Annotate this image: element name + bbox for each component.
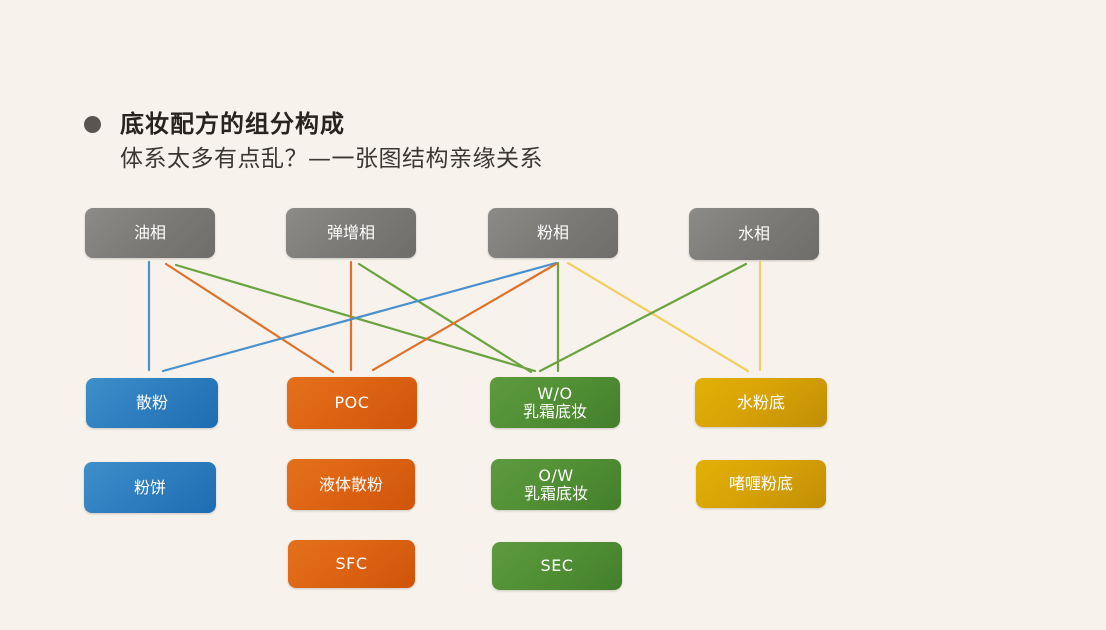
node-label-gel-found: 啫喱粉底 [729, 475, 793, 493]
slide-canvas: 底妆配方的组分构成 体系太多有点乱？—一张图结构亲缘关系 油相弹增相粉相水相散粉… [0, 0, 1106, 630]
node-label-liquid-powder: 液体散粉 [319, 476, 383, 494]
bullet-dot-icon [84, 116, 101, 133]
node-powder[interactable]: 粉相 [488, 208, 618, 258]
node-oil[interactable]: 油相 [85, 208, 215, 258]
connector-powder-to-poc [373, 264, 556, 370]
node-sfc[interactable]: SFC [288, 540, 415, 588]
node-pressed-powder[interactable]: 粉饼 [84, 462, 216, 513]
node-label-ow-cream: O/W [538, 467, 573, 485]
node-label-pressed-powder: 粉饼 [134, 479, 166, 497]
node-wo-cream[interactable]: W/O乳霜底妆 [490, 377, 620, 428]
node-label-water: 水相 [738, 225, 770, 243]
node-label-sec: SEC [541, 557, 574, 575]
node-loose-powder[interactable]: 散粉 [86, 378, 218, 428]
node-poc[interactable]: POC [287, 377, 417, 429]
node-label-loose-powder: 散粉 [136, 394, 168, 412]
node-label-poc: POC [335, 394, 370, 412]
node-liquid-powder[interactable]: 液体散粉 [287, 459, 415, 510]
node-elast[interactable]: 弹增相 [286, 208, 416, 258]
node-gel-found[interactable]: 啫喱粉底 [696, 460, 826, 508]
node-label-elast: 弹增相 [327, 224, 375, 242]
connector-powder-to-water-found [568, 263, 748, 371]
node-sec[interactable]: SEC [492, 542, 622, 590]
page-title: 底妆配方的组分构成 [120, 104, 345, 139]
connector-oil-to-wo-cream [176, 265, 535, 371]
connector-water-to-wo-cream [540, 264, 746, 371]
connector-lines-layer [0, 0, 1106, 630]
node-label-wo-cream: W/O [537, 385, 572, 403]
connector-powder-to-loose-powder [163, 263, 556, 371]
node-label-oil: 油相 [134, 224, 166, 242]
node-label-water-found: 水粉底 [737, 394, 785, 412]
page-subtitle: 体系太多有点乱？—一张图结构亲缘关系 [120, 139, 543, 173]
node-water-found[interactable]: 水粉底 [695, 378, 827, 427]
connector-oil-to-poc [166, 264, 333, 372]
node-water[interactable]: 水相 [689, 208, 819, 260]
node-label-sfc: SFC [335, 555, 367, 573]
node-sublabel-wo-cream: 乳霜底妆 [523, 403, 587, 421]
connector-elast-to-wo-cream [359, 264, 531, 372]
node-sublabel-ow-cream: 乳霜底妆 [524, 485, 588, 503]
node-ow-cream[interactable]: O/W乳霜底妆 [491, 459, 621, 510]
node-label-powder: 粉相 [537, 224, 569, 242]
